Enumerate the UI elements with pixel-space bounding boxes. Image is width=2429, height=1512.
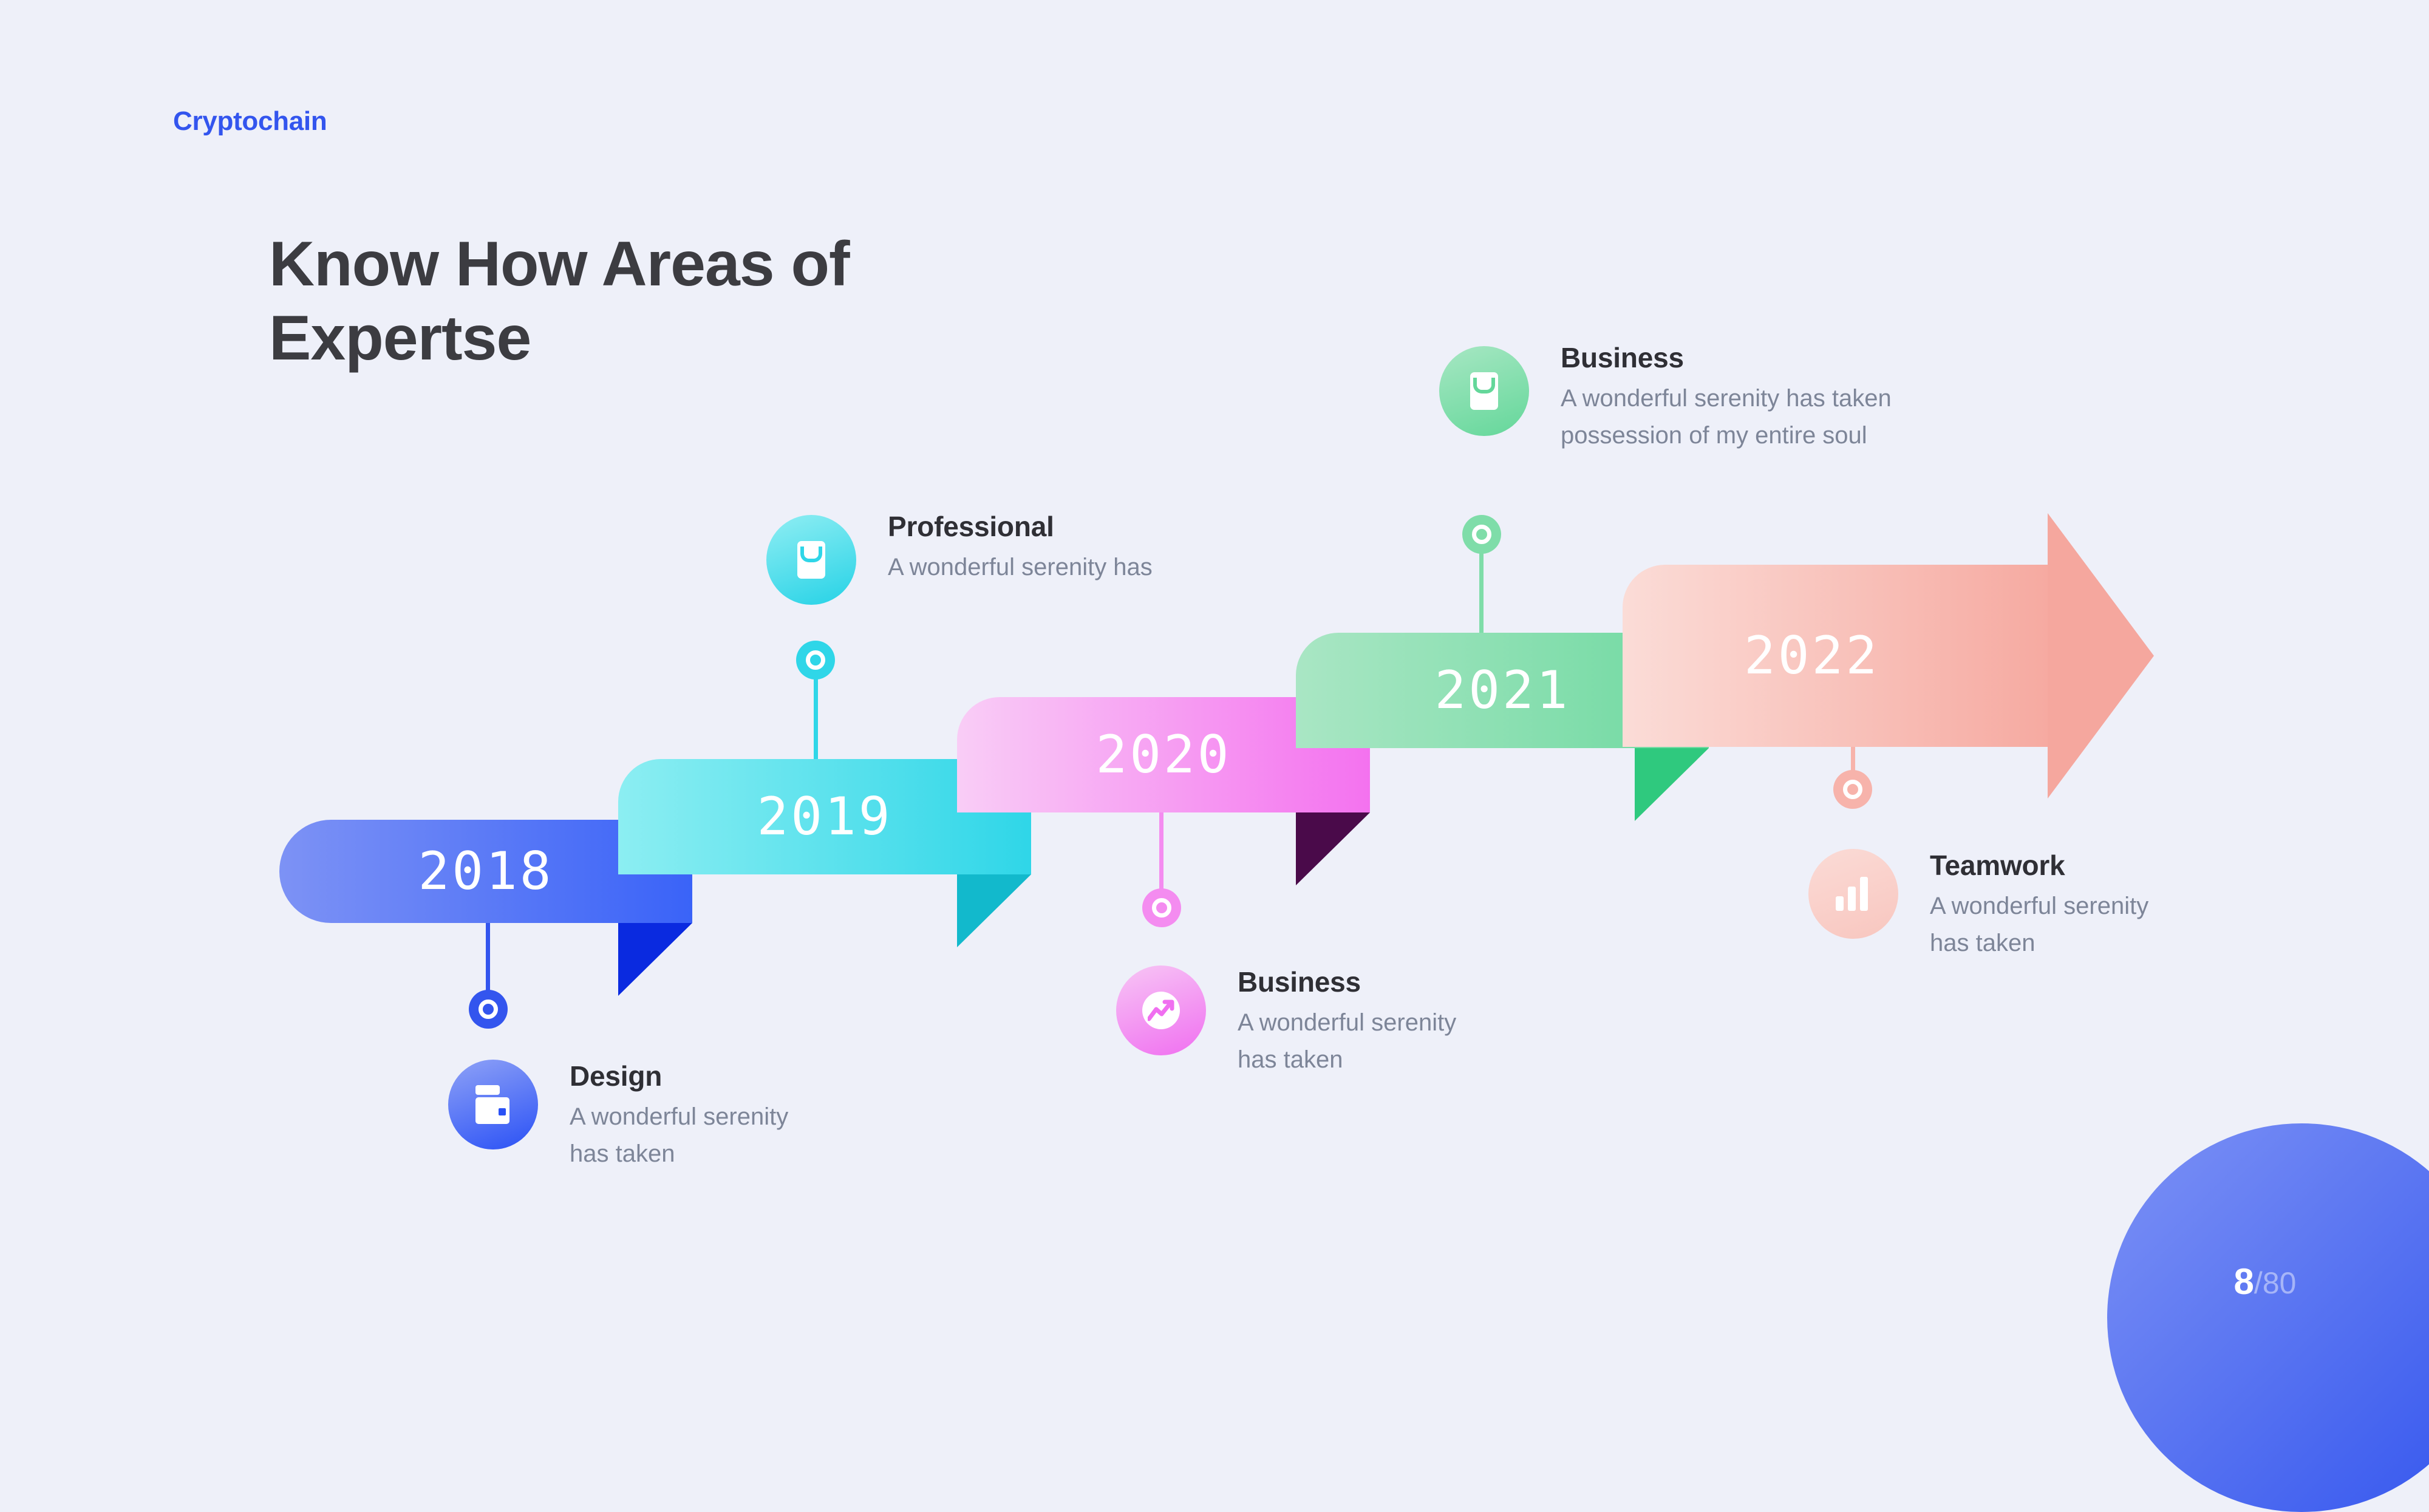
milestone-title-business-2020: Business <box>1238 965 1456 998</box>
timeline-marker-2018[interactable] <box>469 990 508 1029</box>
page-total: /80 <box>2254 1265 2297 1301</box>
milestone-title-teamwork: Teamwork <box>1930 849 2148 882</box>
shopping-bag-icon-business <box>1439 346 1529 436</box>
page-current: 8 <box>2234 1261 2254 1303</box>
wallet-icon <box>448 1060 538 1149</box>
timeline-marker-2022[interactable] <box>1833 770 1872 809</box>
connector-2021 <box>1479 540 1484 638</box>
band-fold-2019 <box>957 874 1031 947</box>
milestone-title-design: Design <box>570 1060 788 1092</box>
milestone-desc-design: A wonderful serenity has taken <box>570 1098 788 1173</box>
milestone-desc-business-2021: A wonderful serenity has taken possessio… <box>1561 380 1892 454</box>
milestone-info-business-2020[interactable]: Business A wonderful serenity has taken <box>1116 965 1456 1078</box>
timeline-marker-2021[interactable] <box>1462 515 1501 554</box>
milestone-info-business-2021[interactable]: Business A wonderful serenity has taken … <box>1439 346 1892 454</box>
connector-stem-2021 <box>1479 540 1484 638</box>
trending-up-icon <box>1116 965 1206 1055</box>
marker-hole-2020 <box>1152 898 1171 918</box>
trend-arrow-glyph <box>1148 998 1174 1023</box>
band-body-2022: 2022 <box>1623 565 2048 747</box>
milestone-desc-business-2020: A wonderful serenity has taken <box>1238 1004 1456 1078</box>
bar-chart-icon <box>1808 849 1898 939</box>
band-fold-2021 <box>1635 748 1709 821</box>
band-fold-2018 <box>618 923 692 996</box>
timeline-marker-2019[interactable] <box>796 641 835 679</box>
shopping-bag-icon-professional <box>766 515 856 605</box>
milestone-title-business-2021: Business <box>1561 341 1892 374</box>
marker-hole-2022 <box>1843 780 1862 799</box>
milestone-info-design[interactable]: Design A wonderful serenity has taken <box>448 1060 788 1173</box>
milestone-title-professional: Professional <box>888 510 1153 543</box>
milestone-info-teamwork[interactable]: Teamwork A wonderful serenity has taken <box>1808 849 2148 962</box>
band-fold-2020 <box>1296 812 1370 885</box>
milestone-desc-professional: A wonderful serenity has <box>888 549 1153 586</box>
band-arrowhead-2022 <box>2048 513 2154 799</box>
timeline-chart: 2018 2019 2020 2021 2022 <box>0 0 2429 1366</box>
marker-hole-2018 <box>479 999 498 1019</box>
timeline-marker-2020[interactable] <box>1142 888 1181 927</box>
milestone-info-professional[interactable]: Professional A wonderful serenity has <box>766 515 1153 605</box>
milestone-desc-teamwork: A wonderful serenity has taken <box>1930 888 2148 962</box>
timeline-band-2022[interactable]: 2022 <box>1623 565 2048 747</box>
marker-hole-2021 <box>1472 525 1491 544</box>
band-year-2022: 2022 <box>1623 565 2048 747</box>
marker-hole-2019 <box>806 650 825 670</box>
